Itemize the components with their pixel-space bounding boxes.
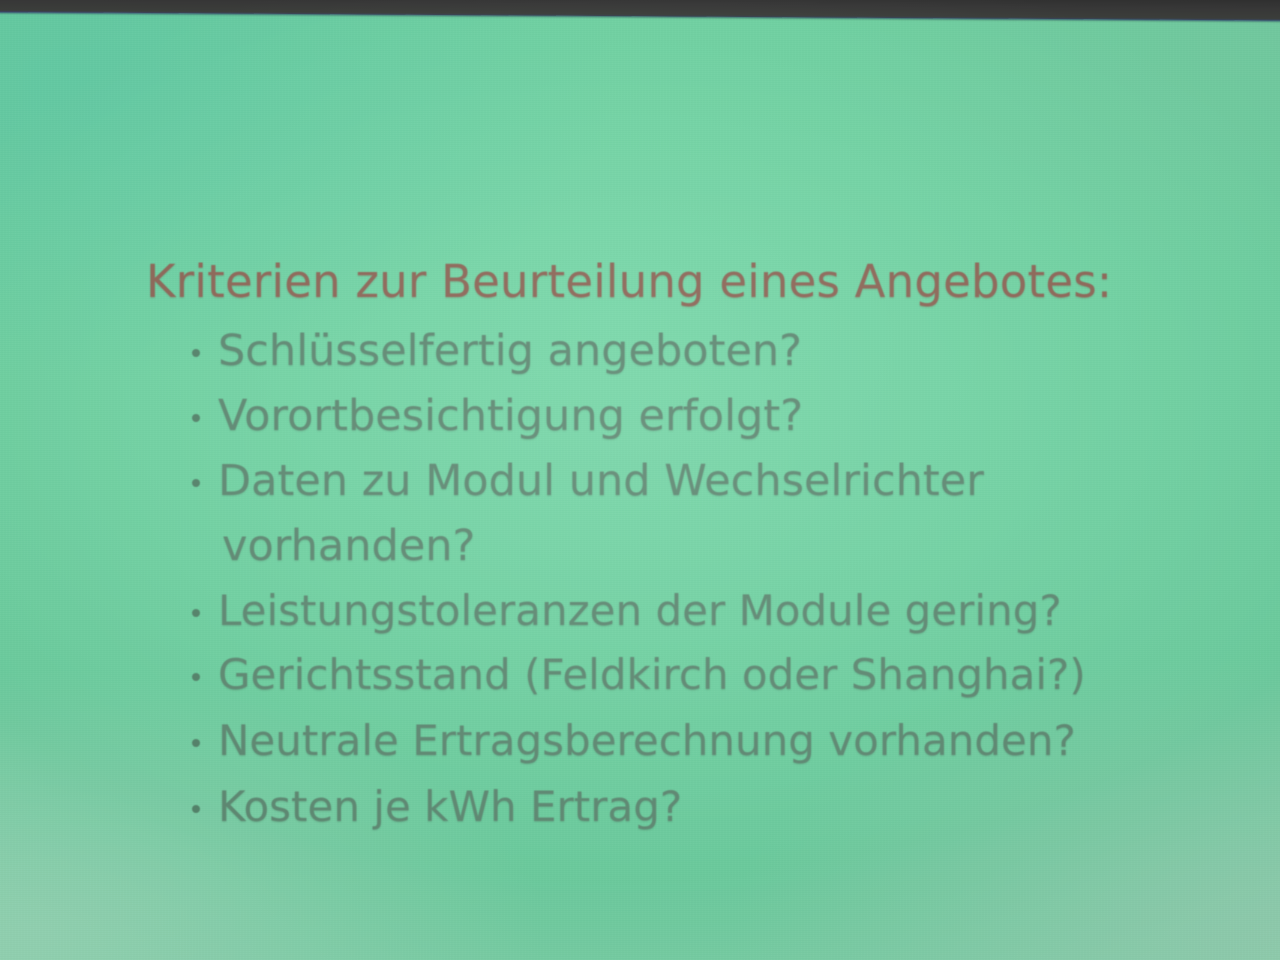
bullet-item-3-continuation: vorhanden? <box>222 521 475 571</box>
bullet-dot-icon <box>192 609 200 617</box>
bullet-item-7: Kosten je kWh Ertrag? <box>192 782 682 831</box>
bullet-dot-icon <box>192 739 200 747</box>
bullet-item-3: Daten zu Modul und Wechselrichter <box>192 456 984 506</box>
bullet-item-4-label: Leistungstoleranzen der Module gering? <box>218 586 1062 635</box>
bullet-item-5: Gerichtsstand (Feldkirch oder Shanghai?) <box>192 650 1086 699</box>
bullet-item-1-label: Schlüsselfertig angeboten? <box>218 326 802 376</box>
slide-title: Kriterien zur Beurteilung eines Angebote… <box>146 256 1112 308</box>
bullet-item-3-continuation-label: vorhanden? <box>222 521 475 571</box>
bullet-item-6: Neutrale Ertragsberechnung vorhanden? <box>192 716 1076 765</box>
bullet-item-7-label: Kosten je kWh Ertrag? <box>218 782 682 831</box>
slide-text-block: Kriterien zur Beurteilung eines Angebote… <box>0 0 1280 960</box>
bullet-item-4: Leistungstoleranzen der Module gering? <box>192 586 1062 635</box>
bullet-item-1: Schlüsselfertig angeboten? <box>192 326 802 376</box>
bullet-item-5-label: Gerichtsstand (Feldkirch oder Shanghai?) <box>218 650 1086 699</box>
bullet-dot-icon <box>192 479 200 487</box>
bullet-item-3-label: Daten zu Modul und Wechselrichter <box>218 456 984 506</box>
bullet-dot-icon <box>192 349 200 357</box>
bullet-dot-icon <box>192 414 200 422</box>
bullet-item-2: Vorortbesichtigung erfolgt? <box>192 391 803 441</box>
bullet-item-2-label: Vorortbesichtigung erfolgt? <box>218 391 803 441</box>
bullet-dot-icon <box>192 805 200 813</box>
bullet-item-6-label: Neutrale Ertragsberechnung vorhanden? <box>218 716 1076 765</box>
projected-slide-photo: Kriterien zur Beurteilung eines Angebote… <box>0 0 1280 960</box>
bullet-dot-icon <box>192 673 200 681</box>
